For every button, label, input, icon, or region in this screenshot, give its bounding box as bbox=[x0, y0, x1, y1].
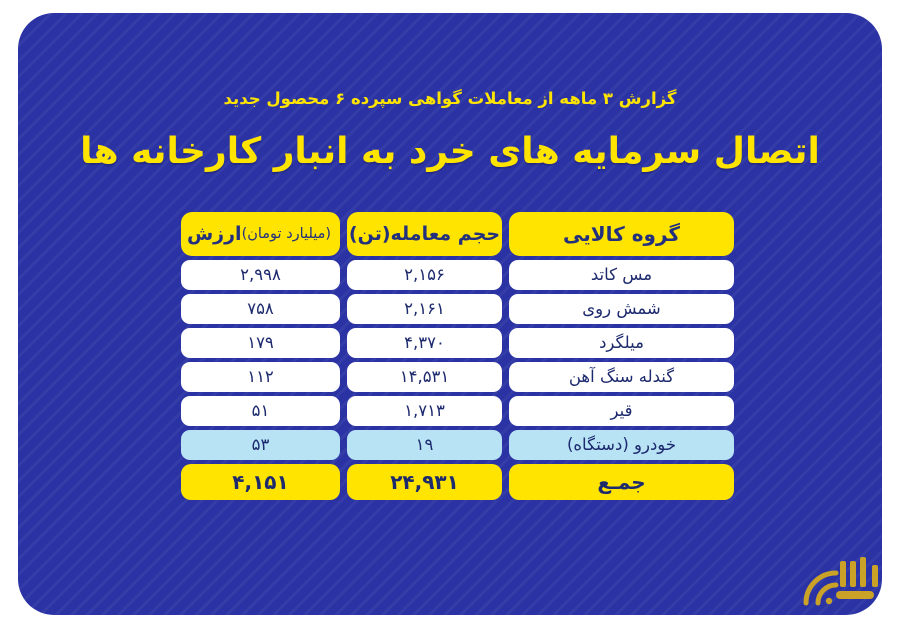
header-value-unit: (میلیارد تومان) bbox=[242, 227, 334, 242]
header-cell-group: گروه کالایی bbox=[509, 212, 734, 256]
cell-value: ۵۱ bbox=[181, 396, 340, 426]
infographic-root: گزارش ۳ ماهه از معاملات گواهی سپرده ۶ مح… bbox=[0, 0, 900, 630]
cell-value: ۵۳ bbox=[181, 430, 340, 460]
signal-waves-icon bbox=[796, 549, 882, 611]
table-header-row: (میلیارد تومان)ارزش حجم معامله(تن) گروه … bbox=[181, 212, 734, 256]
header-cell-value: (میلیارد تومان)ارزش bbox=[181, 212, 340, 256]
cell-volume: ۲,۱۵۶ bbox=[347, 260, 502, 290]
table-row: ۱۷۹ ۴,۳۷۰ میلگرد bbox=[181, 328, 734, 358]
cell-value: ۷۵۸ bbox=[181, 294, 340, 324]
table-row: ۱۱۲ ۱۴,۵۳۱ گندله سنگ آهن bbox=[181, 362, 734, 392]
brand-logo bbox=[796, 549, 882, 611]
table-row-highlighted: ۵۳ ۱۹ خودرو (دستگاه) bbox=[181, 430, 734, 460]
total-cell-label: جمـع bbox=[509, 464, 734, 500]
header-value-main: ارزش bbox=[187, 225, 242, 244]
cell-value: ۲,۹۹۸ bbox=[181, 260, 340, 290]
commodity-table: (میلیارد تومان)ارزش حجم معامله(تن) گروه … bbox=[181, 212, 734, 500]
cell-group: گندله سنگ آهن bbox=[509, 362, 734, 392]
header-cell-volume: حجم معامله(تن) bbox=[347, 212, 502, 256]
total-cell-volume: ۲۴,۹۳۱ bbox=[347, 464, 502, 500]
cell-volume: ۲,۱۶۱ bbox=[347, 294, 502, 324]
cell-group: قیر bbox=[509, 396, 734, 426]
cell-group: میلگرد bbox=[509, 328, 734, 358]
cell-group: مس کاتد bbox=[509, 260, 734, 290]
table-row: ۵۱ ۱,۷۱۳ قیر bbox=[181, 396, 734, 426]
cell-value: ۱۱۲ bbox=[181, 362, 340, 392]
cell-volume: ۴,۳۷۰ bbox=[347, 328, 502, 358]
table-total-row: ۴,۱۵۱ ۲۴,۹۳۱ جمـع bbox=[181, 464, 734, 500]
info-card: گزارش ۳ ماهه از معاملات گواهی سپرده ۶ مح… bbox=[18, 13, 882, 615]
cell-volume: ۱۹ bbox=[347, 430, 502, 460]
cell-volume: ۱۴,۵۳۱ bbox=[347, 362, 502, 392]
report-subtitle: گزارش ۳ ماهه از معاملات گواهی سپرده ۶ مح… bbox=[18, 89, 882, 108]
table-row: ۷۵۸ ۲,۱۶۱ شمش روی bbox=[181, 294, 734, 324]
signal-dot-icon bbox=[826, 598, 832, 604]
cell-volume: ۱,۷۱۳ bbox=[347, 396, 502, 426]
cell-group: شمش روی bbox=[509, 294, 734, 324]
total-cell-value: ۴,۱۵۱ bbox=[181, 464, 340, 500]
cell-group: خودرو (دستگاه) bbox=[509, 430, 734, 460]
page-title: اتصال سرمایه های خرد به انبار کارخانه ها bbox=[18, 131, 882, 172]
table-row: ۲,۹۹۸ ۲,۱۵۶ مس کاتد bbox=[181, 260, 734, 290]
cell-value: ۱۷۹ bbox=[181, 328, 340, 358]
